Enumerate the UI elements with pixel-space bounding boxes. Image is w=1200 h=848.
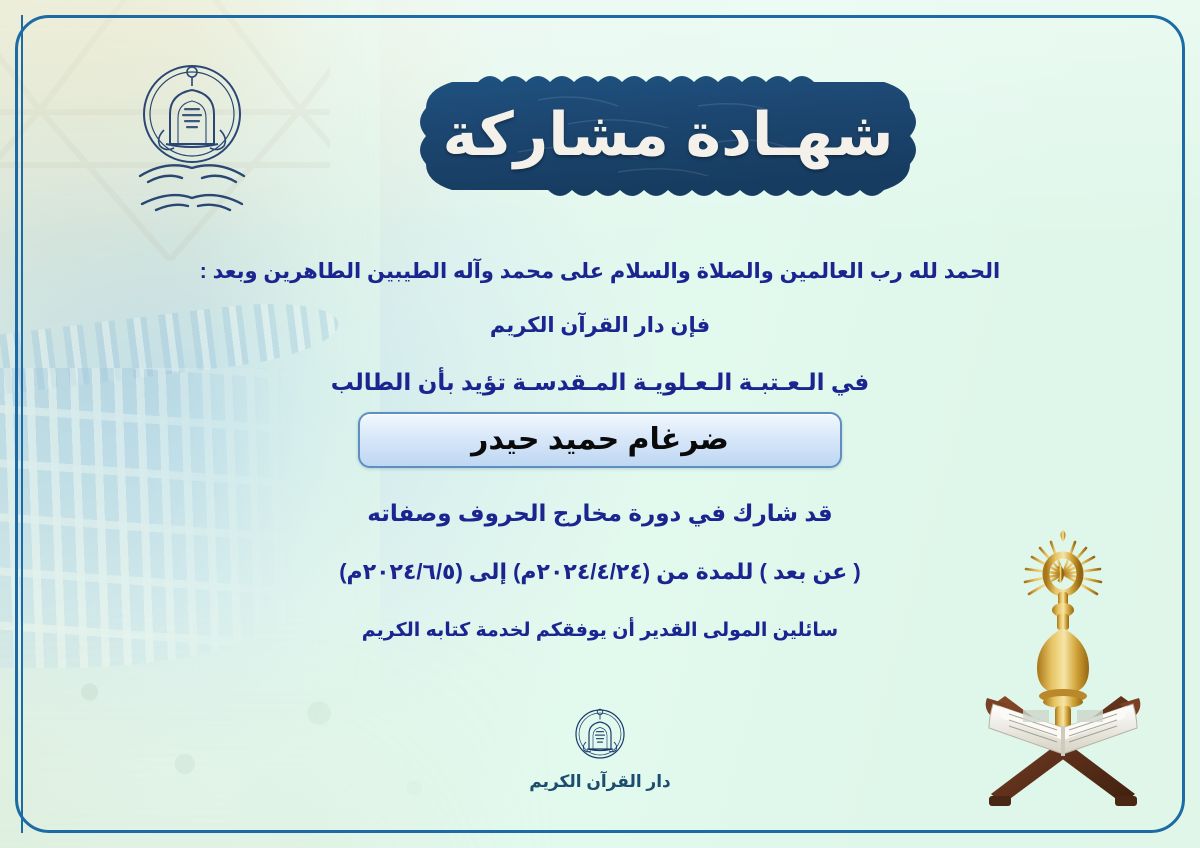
recipient-name-box: ضرغام حميد حيدر [358, 412, 842, 468]
certificate-title: شهـادة مشاركة [418, 72, 918, 204]
body-line-course: قد شارك في دورة مخارج الحروف وصفاته [0, 498, 1200, 529]
organization-logo-icon [126, 52, 258, 220]
certificate: شهـادة مشاركة الحمد لله رب العالمين والص… [0, 0, 1200, 848]
body-line-institution: فإن دار القرآن الكريم [0, 312, 1200, 340]
body-line-authority: في الـعـتبـة الـعـلويـة المـقدسـة تؤيد ب… [0, 367, 1200, 398]
footer-emblem-icon [567, 700, 633, 766]
title-banner: شهـادة مشاركة [418, 72, 918, 204]
finial-sunburst-icon [1025, 540, 1101, 594]
recipient-name: ضرغام حميد حيدر [471, 422, 729, 457]
quran-on-rehal-illustration [963, 528, 1163, 828]
body-line-praise: الحمد لله رب العالمين والصلاة والسلام عل… [0, 258, 1200, 286]
